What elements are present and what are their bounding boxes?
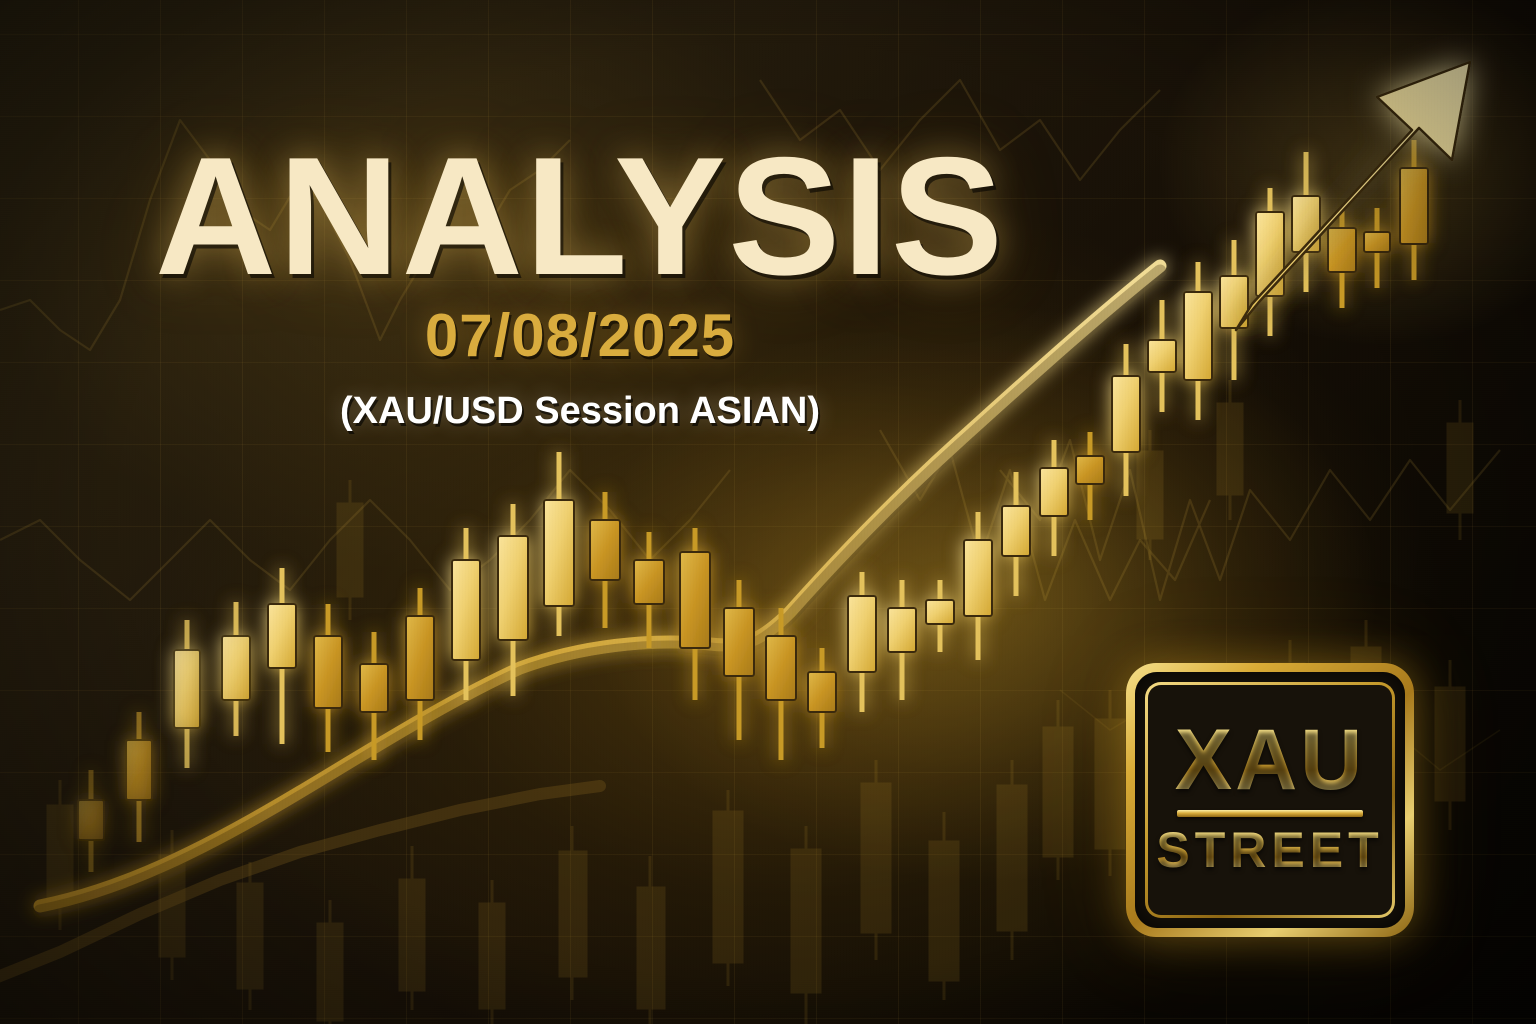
analysis-date: 07/08/2025 xyxy=(0,306,1160,366)
logo-text-xau: XAU xyxy=(1175,719,1366,802)
banner-canvas: ANALYSIS 07/08/2025 (XAU/USD Session ASI… xyxy=(0,0,1536,1024)
xau-street-logo[interactable]: XAU STREET xyxy=(1126,663,1414,937)
logo-content: XAU STREET xyxy=(1126,663,1414,937)
date-container: 07/08/2025 xyxy=(0,306,1160,366)
logo-divider xyxy=(1177,810,1363,817)
logo-text-street: STREET xyxy=(1156,825,1383,875)
subtitle-container: (XAU/USD Session ASIAN) xyxy=(0,392,1160,430)
page-title-container: ANALYSIS xyxy=(0,132,1160,300)
analysis-subtitle: (XAU/USD Session ASIAN) xyxy=(0,392,1160,430)
page-title: ANALYSIS xyxy=(0,132,1160,300)
